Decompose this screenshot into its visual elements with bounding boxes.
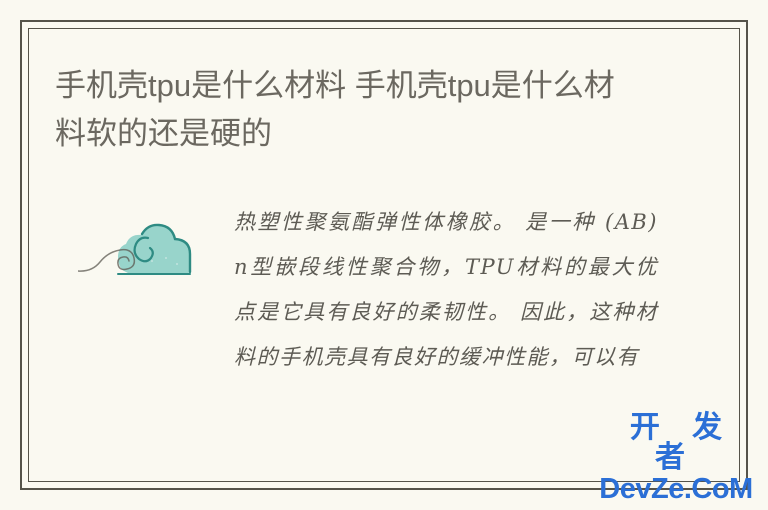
page-title: 手机壳tpu是什么材料 手机壳tpu是什么材料软的还是硬的 — [55, 62, 635, 158]
site-watermark: 开 发 者 DevZe.CoM — [592, 413, 760, 504]
article-body-text: 热塑性聚氨酯弹性体橡胶。 是一种 (AB) n型嵌段线性聚合物，TPU材料的最大… — [234, 200, 658, 380]
watermark-domain-label: DevZe.CoM — [592, 475, 760, 504]
document-content: 手机壳tpu是什么材料 手机壳tpu是什么材料软的还是硬的 — [0, 0, 768, 510]
cloud-swirl-icon — [78, 214, 198, 284]
watermark-chinese-label: 开 发 者 — [592, 413, 760, 473]
document-page: 手机壳tpu是什么材料 手机壳tpu是什么材料软的还是硬的 — [0, 0, 768, 510]
